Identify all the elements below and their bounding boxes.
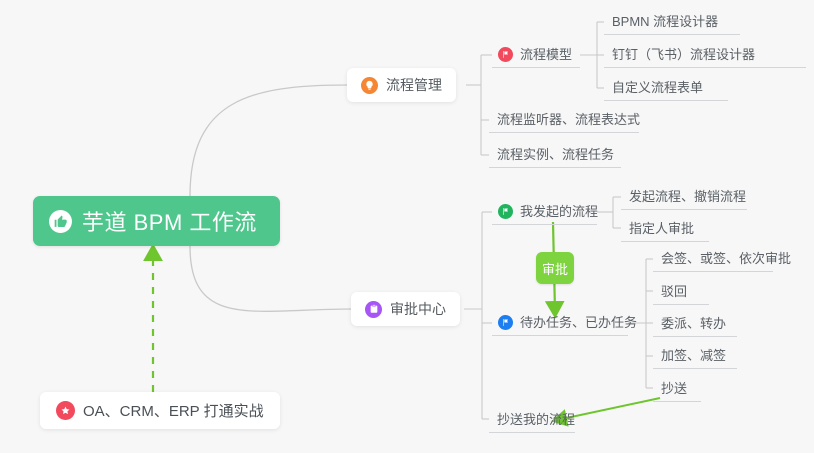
leaf-my-started-flows[interactable]: 我发起的流程 xyxy=(492,201,597,225)
node-integration-practice[interactable]: OA、CRM、ERP 打通实战 xyxy=(40,392,280,429)
leaf-delegate-transfer[interactable]: 委派、转办 xyxy=(653,313,737,337)
leaf-countersign-approval[interactable]: 会签、或签、依次审批 xyxy=(653,248,773,272)
leaf-cc[interactable]: 抄送 xyxy=(653,378,701,402)
leaf-flow-listener-expression[interactable]: 流程监听器、流程表达式 xyxy=(489,109,639,133)
leaf-cc-my-flows[interactable]: 抄送我的流程 xyxy=(489,409,575,433)
leaf-bpmn-designer[interactable]: BPMN 流程设计器 xyxy=(604,11,740,35)
leaf-custom-form[interactable]: 自定义流程表单 xyxy=(604,77,728,101)
flag-icon xyxy=(498,47,513,62)
approve-badge[interactable]: 审批 xyxy=(536,252,574,284)
edge-root-to-approval-center xyxy=(190,246,351,311)
flag-icon xyxy=(498,204,513,219)
flag-icon xyxy=(498,315,513,330)
lightbulb-icon xyxy=(361,77,378,94)
node-integration-practice-label: OA、CRM、ERP 打通实战 xyxy=(83,400,264,421)
leaf-dingtalk-designer[interactable]: 钉钉（飞书）流程设计器 xyxy=(604,44,806,68)
leaf-label-flow-model: 流程模型 xyxy=(520,46,572,63)
leaf-flow-instance-task[interactable]: 流程实例、流程任务 xyxy=(489,144,621,168)
branch-node-flow-management[interactable]: 流程管理 xyxy=(347,68,456,102)
leaf-add-remove-sign[interactable]: 加签、减签 xyxy=(653,345,737,369)
branch-node-approval-center[interactable]: 审批中心 xyxy=(351,292,460,326)
leaf-reject[interactable]: 驳回 xyxy=(653,281,709,305)
thumbs-up-icon xyxy=(49,210,72,233)
branch-label-flow-management: 流程管理 xyxy=(386,75,442,95)
star-icon xyxy=(56,401,75,420)
leaf-label-my-started-flows: 我发起的流程 xyxy=(520,203,598,220)
leaf-todo-done-tasks[interactable]: 待办任务、已办任务 xyxy=(492,312,628,336)
approve-badge-label: 审批 xyxy=(542,259,568,278)
edge-root-to-flow-management xyxy=(190,85,347,196)
leaf-assignee-approval[interactable]: 指定人审批 xyxy=(621,218,709,242)
branch-label-approval-center: 审批中心 xyxy=(390,299,446,319)
leaf-start-cancel-flow[interactable]: 发起流程、撤销流程 xyxy=(621,186,747,210)
leaf-flow-model[interactable]: 流程模型 xyxy=(492,44,580,68)
leaf-label-todo-done-tasks: 待办任务、已办任务 xyxy=(520,314,637,331)
root-node[interactable]: 芋道 BPM 工作流 xyxy=(33,196,280,246)
clipboard-icon xyxy=(365,301,382,318)
mindmap-canvas: 芋道 BPM 工作流 流程管理 流程模型 BPMN 流程设计器 钉钉（飞书）流程… xyxy=(0,0,814,453)
root-label: 芋道 BPM 工作流 xyxy=(82,205,257,237)
